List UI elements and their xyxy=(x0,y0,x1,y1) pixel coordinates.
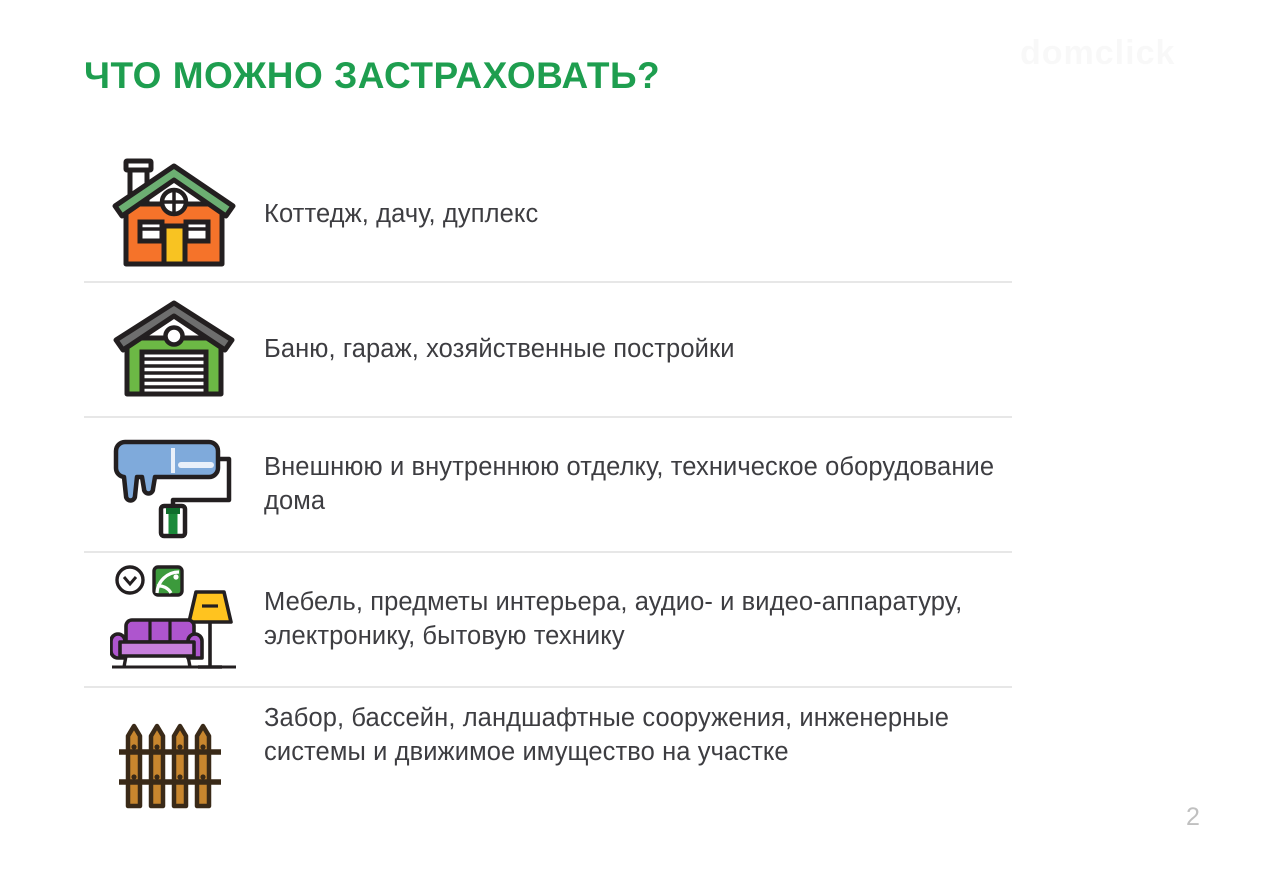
furniture-icon xyxy=(110,562,238,678)
list-item-label: Мебель, предметы интерьера, аудио- и вид… xyxy=(264,586,1012,654)
house-icon xyxy=(110,156,238,274)
list-item-icon xyxy=(84,156,264,274)
list-item: Коттедж, дачу, дуплекс xyxy=(84,148,1012,281)
list-item-icon xyxy=(84,430,264,540)
slide-canvas: domclick ЧТО МОЖНО ЗАСТРАХОВАТЬ? xyxy=(0,0,1280,885)
list-item-icon xyxy=(84,702,264,814)
list-item-label: Внешнюю и внутреннюю отделку, техническо… xyxy=(264,451,1012,519)
list-item: Мебель, предметы интерьера, аудио- и вид… xyxy=(84,551,1012,686)
page-number: 2 xyxy=(1186,803,1200,832)
sofa-glyph xyxy=(111,620,202,667)
picture-frame-glyph xyxy=(154,567,182,595)
watermark: domclick xyxy=(1020,34,1220,104)
paint-roller-icon xyxy=(111,430,237,540)
insurable-items-list: Коттедж, дачу, дуплекс xyxy=(84,148,1012,838)
list-item-label: Забор, бассейн, ландшафтные сооружения, … xyxy=(264,702,1012,770)
list-item: Забор, бассейн, ландшафтные сооружения, … xyxy=(84,686,1012,838)
fence-icon xyxy=(118,714,230,814)
list-item-icon xyxy=(84,562,264,678)
page-title: ЧТО МОЖНО ЗАСТРАХОВАТЬ? xyxy=(84,55,660,97)
clock-glyph xyxy=(117,567,143,593)
list-item-label: Коттедж, дачу, дуплекс xyxy=(264,198,550,232)
watermark-label: domclick xyxy=(1020,34,1220,73)
list-item-label: Баню, гараж, хозяйственные постройки xyxy=(264,333,747,367)
list-item-icon xyxy=(84,298,264,402)
list-item: Баню, гараж, хозяйственные постройки xyxy=(84,281,1012,416)
garage-icon xyxy=(111,298,237,402)
list-item: Внешнюю и внутреннюю отделку, техническо… xyxy=(84,416,1012,551)
